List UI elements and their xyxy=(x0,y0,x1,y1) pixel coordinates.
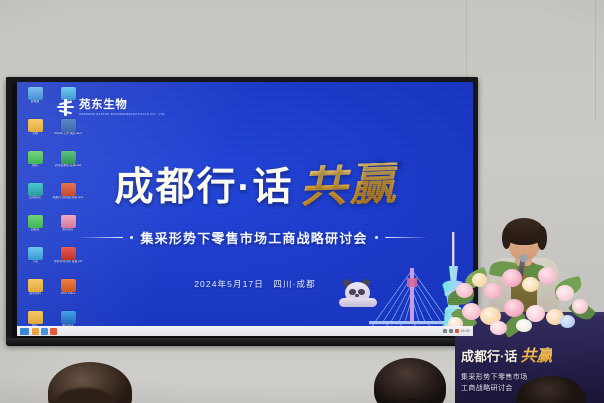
desktop-icon-grid[interactable]: 此电脑 回收站 文档 2024年工作 总结.docx 微信 研讨会参会 名单.x… xyxy=(20,86,86,336)
computer-icon xyxy=(28,87,43,100)
subtitle-dot-right xyxy=(375,236,378,239)
taskbar-clock[interactable]: 15:42 xyxy=(461,329,471,333)
speaker-hair xyxy=(504,218,544,245)
desktop-icon-label: 零售市场分析 报告.pdf xyxy=(52,260,84,263)
led-display-panel: 此电脑 回收站 文档 2024年工作 总结.docx 微信 研讨会参会 名单.x… xyxy=(6,77,478,345)
volume-icon[interactable] xyxy=(449,329,453,333)
slide-dateline: 2024年5月17日 四川·成都 xyxy=(17,278,473,290)
wps-icon[interactable] xyxy=(50,328,57,335)
desktop-icon-label: 文档 xyxy=(21,132,50,135)
subtitle-dot-left xyxy=(130,236,133,239)
title-white-part: 成都行·话 xyxy=(115,167,294,209)
slide-subtitle-row: 集采形势下零售市场工商战略研讨会 xyxy=(17,228,473,247)
desktop-icon[interactable]: 此电脑 xyxy=(20,86,50,116)
excel-document-icon xyxy=(61,151,76,164)
browser-icon[interactable] xyxy=(41,328,48,335)
desktop-icon[interactable]: 文档 xyxy=(20,118,50,148)
logo-latin-subtext: CHENGDU EASTON BIOPHARMACEUTICALS CO., L… xyxy=(79,113,166,116)
conference-photo-scene: 此电脑 回收站 文档 2024年工作 总结.docx 微信 研讨会参会 名单.x… xyxy=(0,0,604,403)
downloads-icon xyxy=(28,247,43,260)
floral-arrangement xyxy=(446,255,598,333)
wechat-icon xyxy=(28,151,43,164)
title-gold-part: 共赢 xyxy=(299,162,398,207)
desktop-icon-label: 备份资料 xyxy=(21,292,50,295)
desktop-icon-label: WPS Office xyxy=(52,292,84,295)
desktop-icon-label: 2024年工作 总结.docx xyxy=(52,132,84,135)
windows-taskbar[interactable]: 15:42 xyxy=(17,326,473,336)
network-icon[interactable] xyxy=(443,329,447,333)
desktop-icon-label: 下载 xyxy=(21,260,50,263)
photos-folder-icon xyxy=(61,215,76,228)
desktop-icon[interactable]: 零售市场分析 报告.pdf xyxy=(51,246,85,276)
logo-name: 苑东生物 xyxy=(79,99,166,111)
recycle-icon xyxy=(28,215,43,228)
wall-seam xyxy=(466,0,467,84)
tencent-meeting-icon xyxy=(61,311,76,324)
slide-subtitle: 集采形势下零售市场工商战略研讨会 xyxy=(140,228,367,247)
company-logo: 苑东生物 CHENGDU EASTON BIOPHARMACEUTICALS C… xyxy=(57,99,166,116)
podium-title-gold: 共赢 xyxy=(520,342,552,366)
subtitle-rule-left xyxy=(79,237,123,238)
desktop-icon[interactable]: 2024年工作 总结.docx xyxy=(51,118,85,148)
display-screen[interactable]: 此电脑 回收站 文档 2024年工作 总结.docx 微信 研讨会参会 名单.x… xyxy=(17,82,473,336)
system-tray[interactable] xyxy=(443,329,459,333)
explorer-icon[interactable] xyxy=(32,328,39,335)
podium-title: 成都行·话 共赢 xyxy=(461,342,581,366)
windows-start-icon[interactable] xyxy=(20,328,29,335)
pictures-folder-icon xyxy=(28,311,43,324)
desktop-icon-label: 此电脑 xyxy=(21,100,50,103)
word-document-icon xyxy=(61,119,76,132)
ime-icon[interactable] xyxy=(455,329,459,333)
wall-seam xyxy=(595,0,596,120)
slide-title: 成都行·话 共赢 xyxy=(17,164,473,209)
podium-title-white: 成都行·话 xyxy=(461,346,517,365)
desktop-icon[interactable]: 下载 xyxy=(20,246,50,276)
folder-icon xyxy=(28,119,43,132)
subtitle-rule-right xyxy=(385,237,429,238)
pdf-document-icon xyxy=(61,247,76,260)
logo-mark-icon xyxy=(57,99,74,116)
